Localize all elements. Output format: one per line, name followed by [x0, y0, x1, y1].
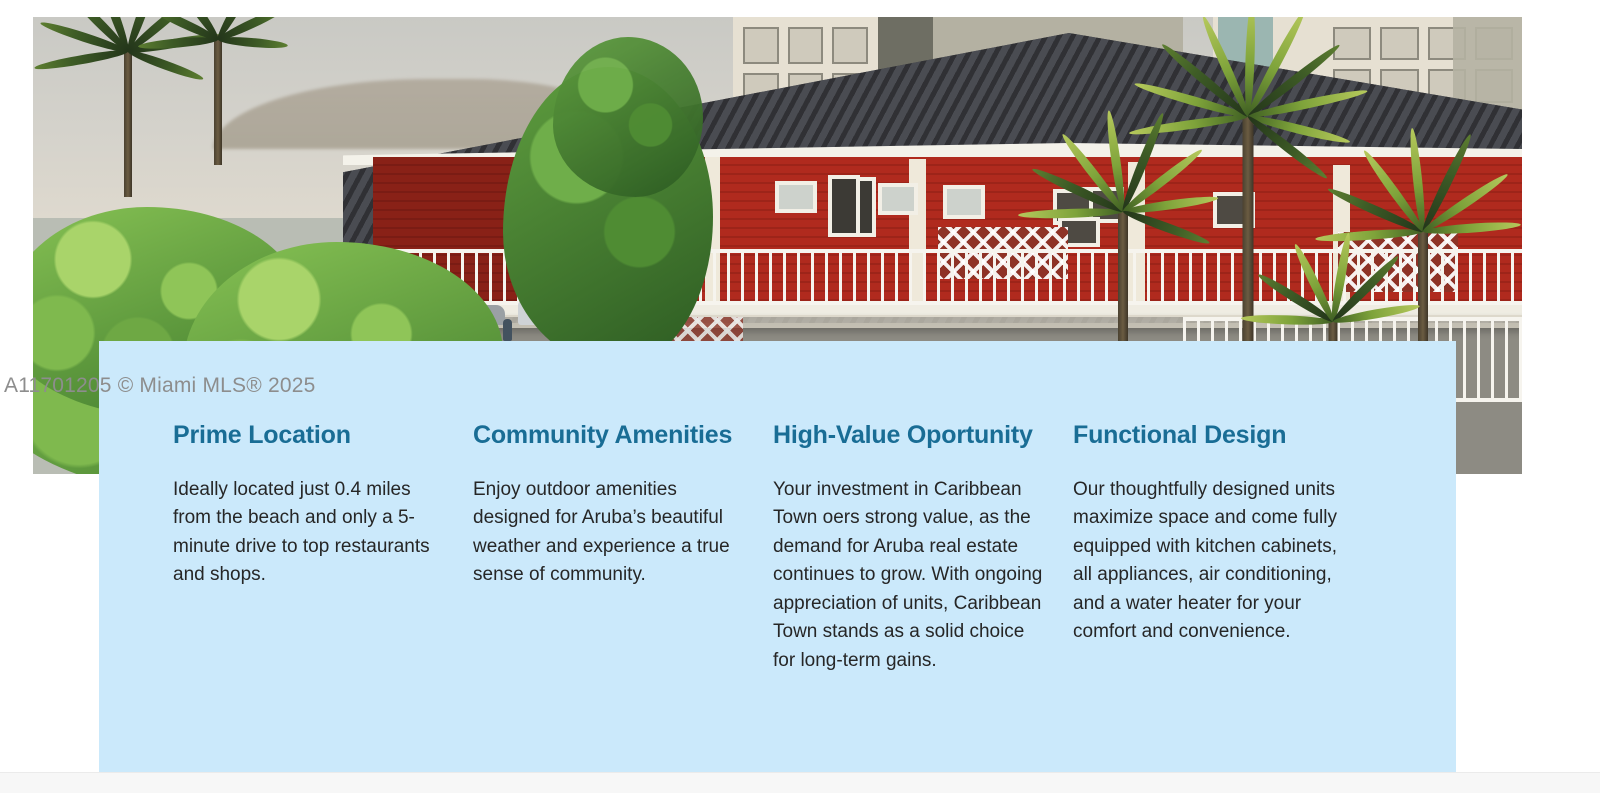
feature-body: Enjoy outdoor amenities designed for Aru… — [473, 476, 745, 590]
feature-column-prime-location: Prime Location Ideally located just 0.4 … — [173, 422, 473, 676]
mls-watermark: A11701205 © Miami MLS® 2025 — [4, 374, 315, 398]
unit-window — [775, 181, 817, 213]
page-root: A11701205 © Miami MLS® 2025 Prime Locati… — [0, 0, 1600, 792]
unit-window — [878, 183, 918, 215]
pedestrian — [503, 319, 512, 341]
feature-heading: Community Amenities — [473, 422, 745, 450]
unit-window — [943, 185, 985, 219]
feature-column-community-amenities: Community Amenities Enjoy outdoor amenit… — [473, 422, 773, 676]
feature-heading: Functional Design — [1073, 422, 1345, 450]
features-panel: Prime Location Ideally located just 0.4 … — [99, 341, 1456, 772]
feature-column-high-value-oportunity: High-Value Oportunity Your investment in… — [773, 422, 1073, 676]
feature-heading: High-Value Oportunity — [773, 422, 1045, 450]
feature-heading: Prime Location — [173, 422, 445, 450]
page-footer-strip — [0, 772, 1600, 793]
feature-body: Ideally located just 0.4 miles from the … — [173, 476, 445, 590]
feature-body: Our thoughtfully designed units maximize… — [1073, 476, 1345, 648]
unit-door — [856, 177, 876, 237]
feature-body: Your investment in Caribbean Town oers s… — [773, 476, 1045, 676]
feature-column-functional-design: Functional Design Our thoughtfully desig… — [1073, 422, 1373, 676]
features-columns: Prime Location Ideally located just 0.4 … — [173, 422, 1373, 676]
center-tree-top — [553, 37, 703, 197]
